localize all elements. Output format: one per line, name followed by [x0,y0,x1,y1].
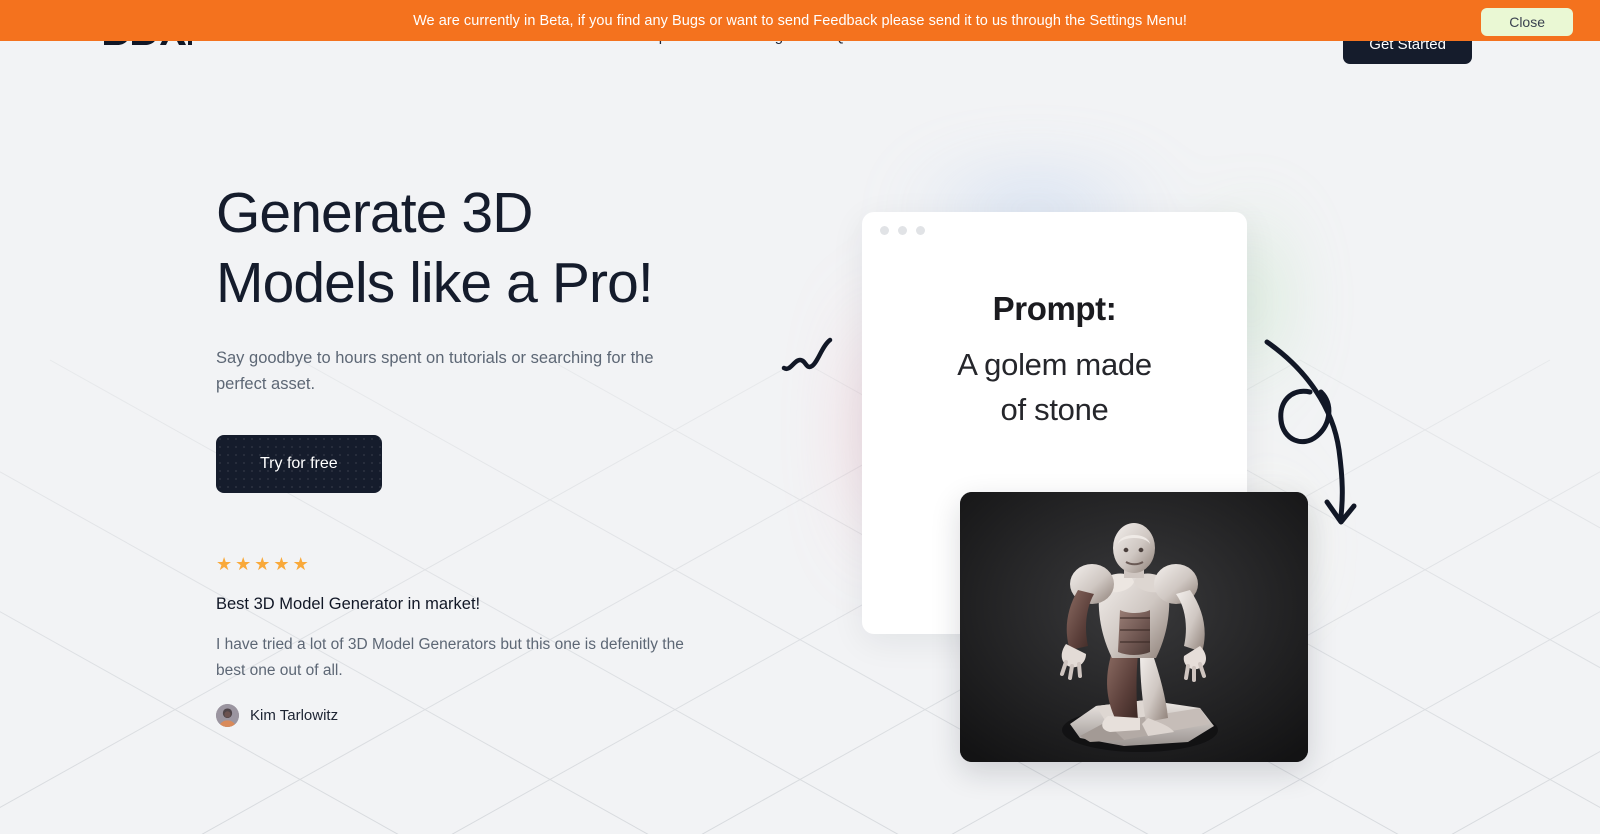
rating-stars: ★ ★ ★ ★ ★ [216,555,776,573]
star-icon: ★ [293,555,309,573]
hero-subtitle: Say goodbye to hours spent on tutorials … [216,345,671,397]
prompt-text-line-2: of stone [1001,392,1109,427]
star-icon: ★ [235,555,251,573]
window-dot-icon [880,226,889,235]
squiggle-doodle-icon [778,330,838,378]
star-icon: ★ [254,555,270,573]
testimonial-body: I have tried a lot of 3D Model Generator… [216,632,716,684]
beta-banner-close-button[interactable]: Close [1481,8,1573,36]
star-icon: ★ [216,555,232,573]
prompt-body: Prompt: A golem made of stone [862,290,1247,432]
testimonial-headline: Best 3D Model Generator in market! [216,595,776,614]
window-dots-icon [880,226,925,235]
render-result-card[interactable]: 3D render of a muscular stone golem stan… [960,492,1308,762]
try-for-free-button[interactable]: Try for free [216,435,382,493]
golem-render-image [960,492,1308,762]
avatar [216,704,239,727]
window-dot-icon [898,226,907,235]
prompt-text-line-1: A golem made [957,347,1152,382]
beta-banner-message: We are currently in Beta, if you find an… [413,13,1187,29]
prompt-label: Prompt: [896,290,1213,328]
beta-banner: We are currently in Beta, if you find an… [0,0,1600,41]
testimonial-author-name: Kim Tarlowitz [250,707,338,724]
hero-title-line-2: Models like a Pro! [216,248,776,318]
hero-title-line-1: Generate 3D [216,178,776,248]
hero-title: Generate 3D Models like a Pro! [216,178,776,318]
showcase: Prompt: A golem made of stone [760,130,1460,810]
testimonial-author: Kim Tarlowitz [216,704,776,727]
testimonial: ★ ★ ★ ★ ★ Best 3D Model Generator in mar… [216,555,776,727]
window-dot-icon [916,226,925,235]
hero-content: Generate 3D Models like a Pro! Say goodb… [216,178,776,727]
star-icon: ★ [273,555,289,573]
